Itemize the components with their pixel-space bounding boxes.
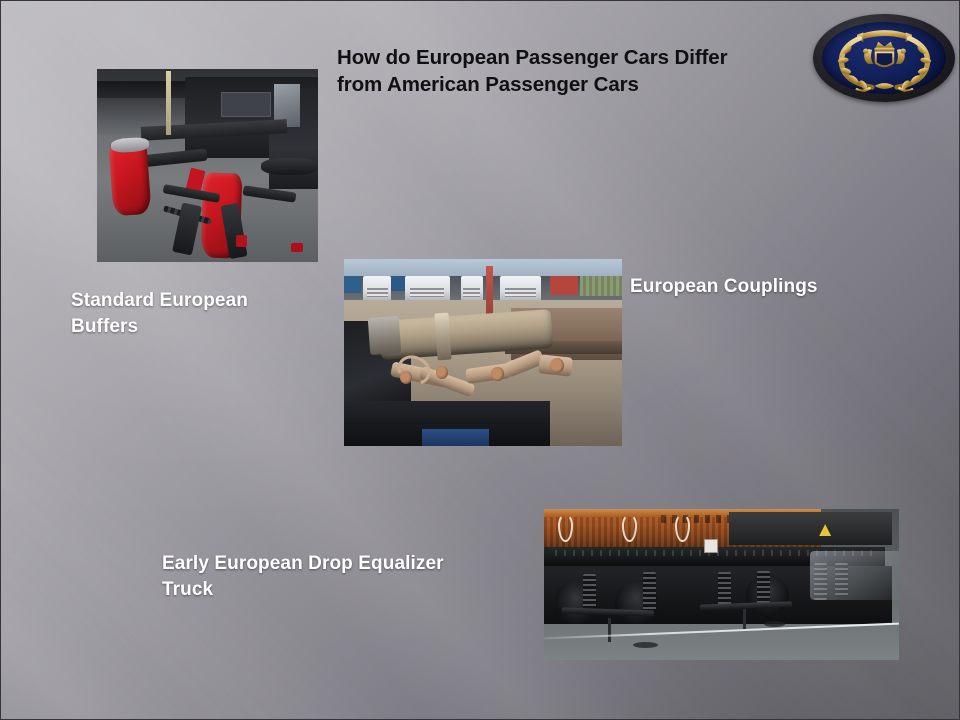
photo-couplings-pin-4 <box>550 358 564 373</box>
photo-standard-european-buffers[interactable] <box>97 69 318 262</box>
photo-truck-number-plate <box>704 539 718 553</box>
photo-couplings-buffer-head <box>368 316 401 355</box>
photo-truck-ground-stain-2 <box>764 621 785 627</box>
photo-truck-light-sheen <box>810 551 899 599</box>
caption-drop-equalizer-truck: Early European Drop Equalizer Truck <box>162 551 542 603</box>
photo-truck-ground-stain-1 <box>633 642 658 648</box>
photo-buffers-pole <box>166 71 171 135</box>
photo-buffers-content <box>97 69 318 262</box>
photo-couplings-container-green <box>580 276 622 297</box>
caption-standard-european-buffers: Standard European Buffers <box>71 288 321 340</box>
photo-couplings-container-red <box>550 276 578 295</box>
photo-buffers-car-window <box>221 92 272 117</box>
truck-grille <box>367 288 388 296</box>
photo-couplings-blue-foreground <box>422 429 489 446</box>
slide-title: How do European Passenger Cars Differ fr… <box>337 45 807 98</box>
photo-couplings-white-truck-1 <box>363 276 391 300</box>
photo-buffers-red-buffer-left <box>109 141 152 217</box>
royal-crest-oval-logo <box>813 14 955 102</box>
photo-buffers-red-fitting-corner <box>291 243 302 253</box>
photo-truck-grab-hook-1 <box>558 514 573 542</box>
photo-couplings-pin-3 <box>491 367 504 380</box>
photo-early-european-drop-equalizer-truck[interactable] <box>544 509 899 660</box>
photo-truck-dark-car-section <box>729 512 892 545</box>
photo-buffers-red-fitting-lower <box>236 235 247 247</box>
truck-grille <box>410 288 444 296</box>
photo-truck-leaf-spring-2 <box>643 572 656 611</box>
truck-grille <box>463 288 480 296</box>
photo-truck-leaf-spring-1 <box>583 574 596 610</box>
photo-couplings-white-truck-2 <box>405 276 449 300</box>
photo-couplings-white-truck-3 <box>461 276 483 300</box>
photo-european-couplings[interactable] <box>344 259 622 446</box>
truck-grille <box>505 288 537 296</box>
photo-couplings-container-blue-left <box>344 276 361 293</box>
photo-couplings-white-truck-4 <box>500 276 542 300</box>
presentation-slide: How do European Passenger Cars Differ fr… <box>0 0 960 720</box>
photo-couplings-content <box>344 259 622 446</box>
photo-couplings-sky <box>344 259 622 276</box>
logo-emblem-icon <box>822 22 947 94</box>
photo-couplings-pin-2 <box>436 366 449 379</box>
photo-truck-leaf-spring-4 <box>757 571 770 604</box>
photo-buffers-rod-6 <box>261 158 318 175</box>
photo-truck-content <box>544 509 899 660</box>
logo-navy-field <box>822 22 947 94</box>
photo-truck-grab-hook-2 <box>622 514 637 542</box>
photo-truck-stanchion-1 <box>608 618 612 642</box>
photo-couplings-buffer-collar <box>434 313 451 361</box>
caption-european-couplings: European Couplings <box>630 274 890 300</box>
photo-truck-stanchion-2 <box>743 609 747 630</box>
